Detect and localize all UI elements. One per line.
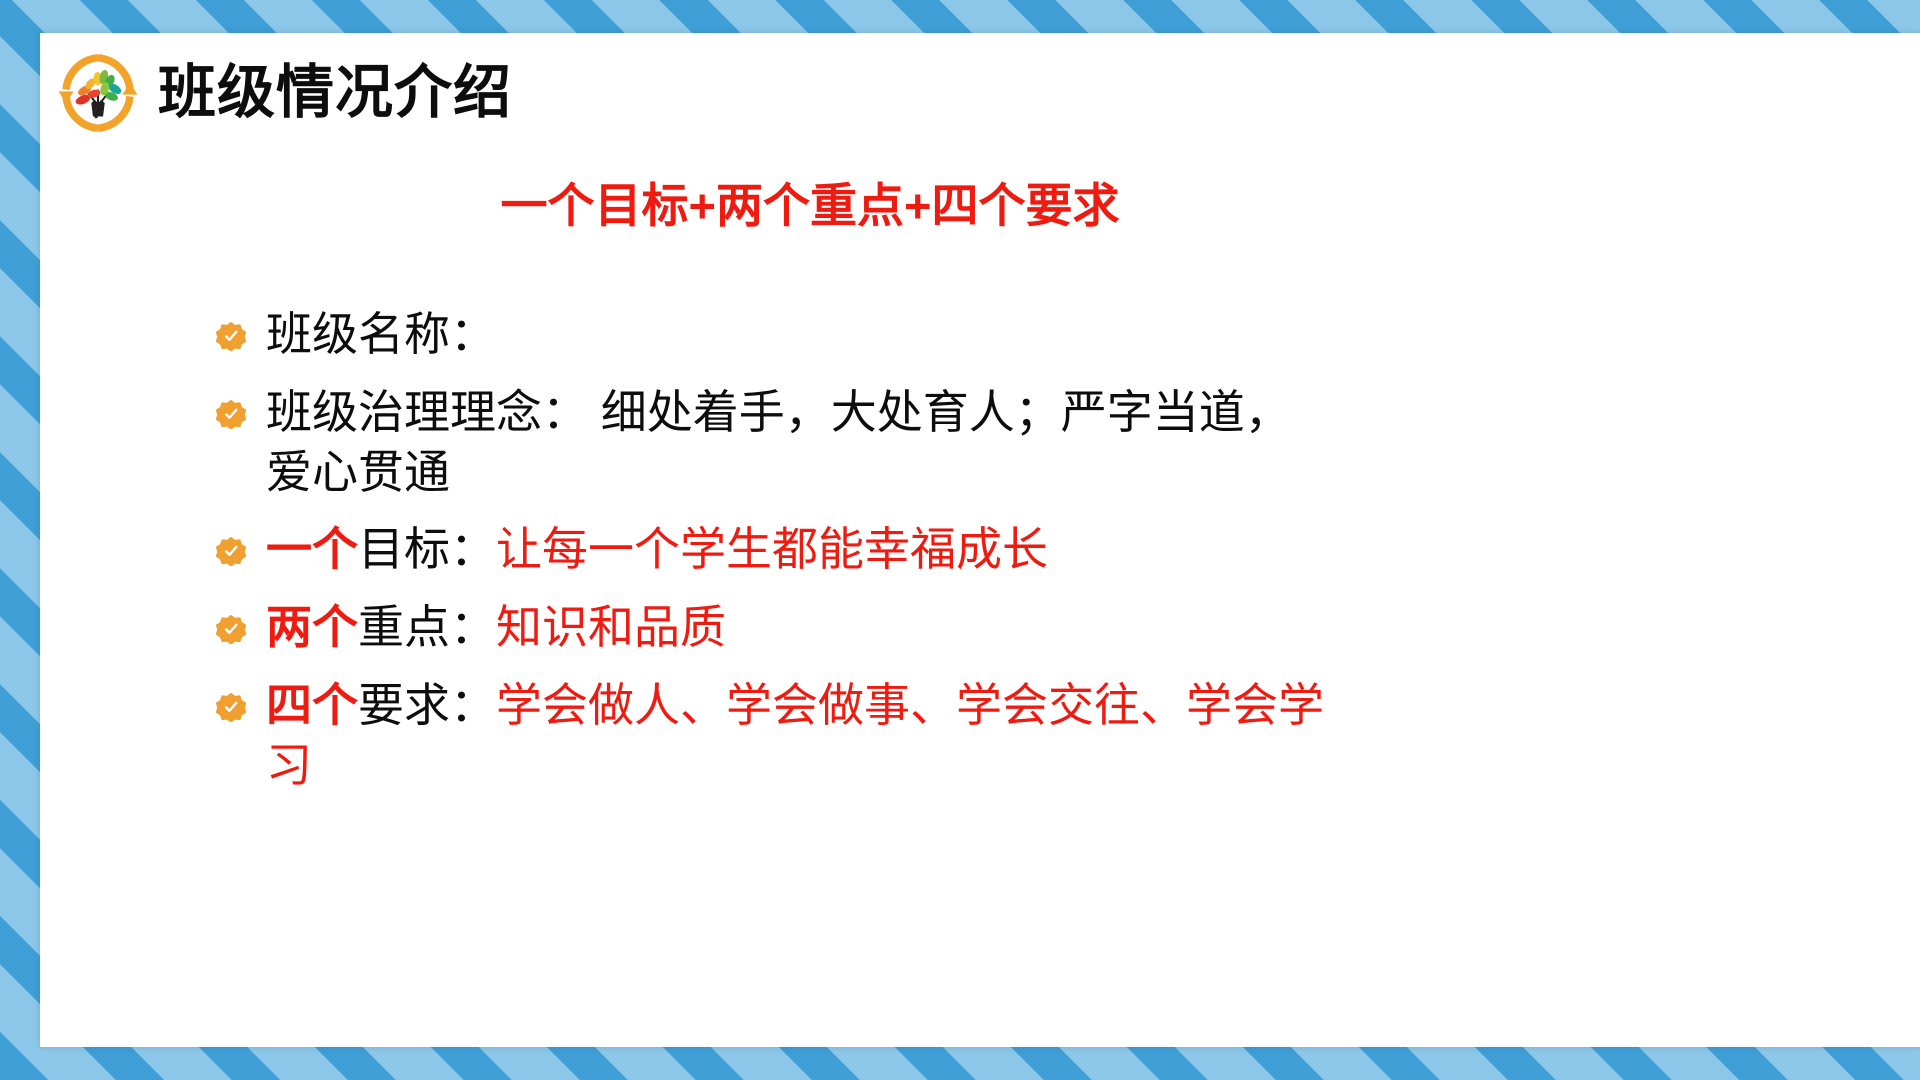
- page-title: 班级情况介绍: [158, 64, 512, 122]
- slide-header: 班级情况介绍: [56, 51, 512, 135]
- check-badge-icon: [216, 321, 246, 351]
- list-item-value: 让每一个学生都能幸福成长: [496, 523, 1048, 575]
- check-badge-icon: [216, 399, 246, 429]
- list-item-label: 要求：: [358, 679, 496, 731]
- check-badge-icon: [216, 614, 246, 644]
- list-item-text: 一个目标：让每一个学生都能幸福成长: [266, 520, 1048, 580]
- list-item-keyword: 一个: [266, 523, 358, 575]
- slide-root: 班级情况介绍 一个目标+两个重点+四个要求 班级名称：: [0, 0, 1920, 1080]
- list-item: 一个目标：让每一个学生都能幸福成长: [216, 520, 1616, 580]
- bullet-list: 班级名称： 班级治理理念： 细处着手，大处育人；严字当道，爱心贯通: [216, 305, 1616, 814]
- check-badge-icon: [216, 536, 246, 566]
- list-item-label: 重点：: [358, 601, 496, 653]
- list-item-text: 两个重点：知识和品质: [266, 598, 726, 658]
- list-item: 两个重点：知识和品质: [216, 598, 1616, 658]
- list-item: 班级治理理念： 细处着手，大处育人；严字当道，爱心贯通: [216, 383, 1616, 503]
- tree-recycle-logo-icon: [56, 51, 140, 135]
- list-item-value: 知识和品质: [496, 601, 726, 653]
- list-item: 班级名称：: [216, 305, 1616, 365]
- list-item-text: 四个要求：学会做人、学会做事、学会交往、学会学习: [266, 676, 1356, 796]
- list-item-label: 班级治理理念： 细处着手，大处育人；严字当道，爱心贯通: [266, 383, 1326, 503]
- list-item: 四个要求：学会做人、学会做事、学会交往、学会学习: [216, 676, 1616, 796]
- check-badge-icon: [216, 692, 246, 722]
- list-item-label: 目标：: [358, 523, 496, 575]
- subtitle-text: 一个目标+两个重点+四个要求: [40, 167, 1920, 236]
- list-item-label: 班级名称：: [266, 305, 496, 365]
- list-item-keyword: 四个: [266, 679, 358, 731]
- list-item-keyword: 两个: [266, 601, 358, 653]
- content-card: 班级情况介绍 一个目标+两个重点+四个要求 班级名称：: [40, 33, 1920, 1047]
